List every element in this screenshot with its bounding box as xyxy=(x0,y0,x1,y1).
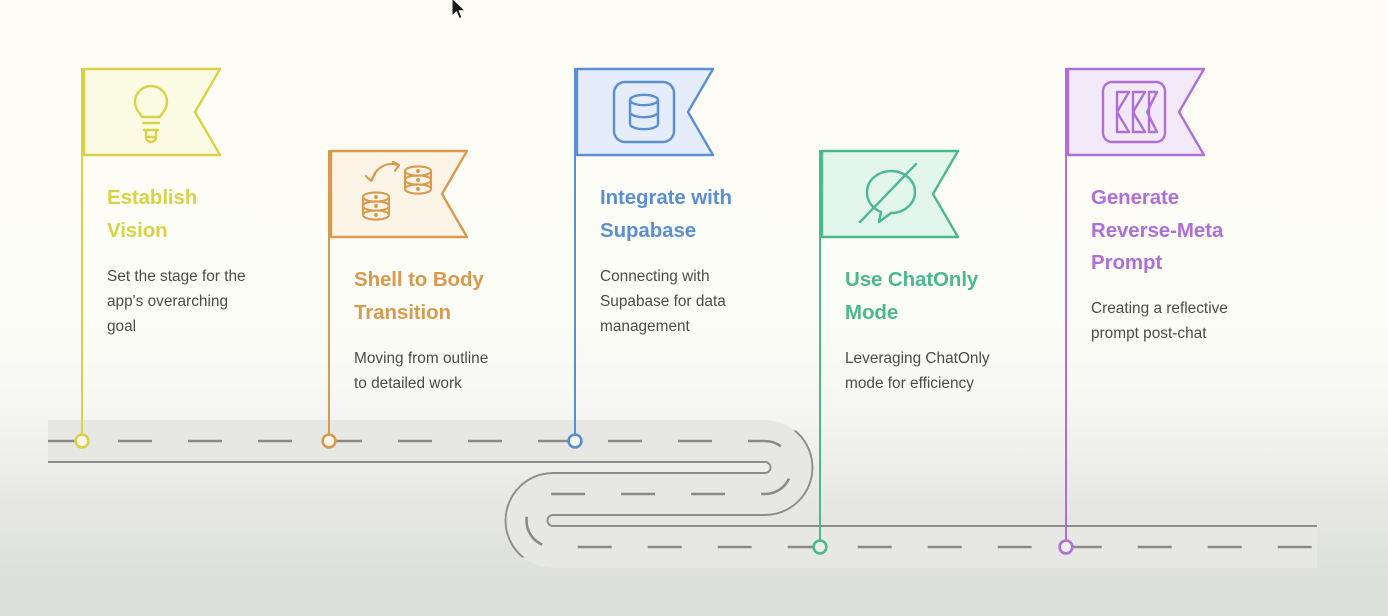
flag-establish-vision xyxy=(83,68,221,156)
milestone-title: Integrate with Supabase xyxy=(600,182,732,247)
flag-generate-reverse-meta-prompt xyxy=(1067,68,1205,156)
flag-integrate-with-supabase xyxy=(576,68,714,156)
milestone-description: Connecting with Supabase for data manage… xyxy=(600,265,726,340)
milestone-description: Moving from outline to detailed work xyxy=(354,347,488,397)
milestone-title: Use ChatOnly Mode xyxy=(845,264,978,329)
mouse-pointer-icon xyxy=(450,0,468,23)
milestone-title: Shell to Body Transition xyxy=(354,264,484,329)
road-edge-outer xyxy=(48,441,1317,547)
milestone-description: Creating a reflective prompt post-chat xyxy=(1091,297,1228,347)
milestone-description: Set the stage for the app's overarching … xyxy=(107,265,246,340)
flag-shell-to-body-transition xyxy=(330,150,468,238)
milestone-description: Leveraging ChatOnly mode for efficiency xyxy=(845,347,990,397)
flag-use-chatonly-mode xyxy=(821,150,959,238)
milestone-title: Generate Reverse-Meta Prompt xyxy=(1091,182,1223,280)
roadmap-diagram: Establish Vision Set the stage for the a… xyxy=(0,0,1388,616)
milestone-title: Establish Vision xyxy=(107,182,197,247)
